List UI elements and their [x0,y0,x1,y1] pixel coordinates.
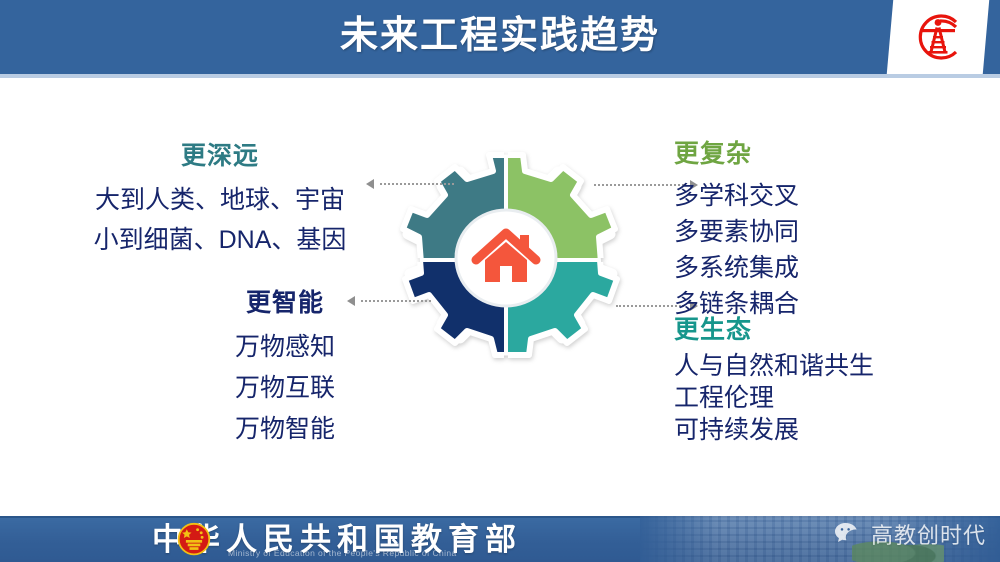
block-line: 可持续发展 [674,414,874,446]
block-line: 多学科交叉 [674,178,799,214]
block-line: 大到人类、地球、宇宙 [70,180,370,220]
block-line: 万物智能 [200,409,370,450]
text-block-ecological: 更生态 人与自然和谐共生 工程伦理 可持续发展 [674,310,874,446]
slide-root: 未来工程实践趋势 [0,0,1000,562]
text-block-smarter: 更智能 万物感知 万物互联 万物智能 [200,283,370,450]
national-emblem-of-china [176,522,212,558]
watermark-text: 高教创时代 [871,518,986,550]
header-bar: 未来工程实践趋势 [0,0,1000,74]
text-block-deeper: 更深远 大到人类、地球、宇宙 小到细菌、DNA、基因 [70,136,370,260]
block-heading-ecological: 更生态 [674,310,874,346]
page-title: 未来工程实践趋势 [0,0,1000,74]
block-line: 万物互联 [200,368,370,409]
block-line: 多要素协同 [674,214,799,250]
block-heading-deeper: 更深远 [70,136,370,172]
block-line: 万物感知 [200,327,370,368]
block-heading-smarter: 更智能 [200,283,370,319]
connector-deeper [374,183,454,185]
wechat-watermark: 高教创时代 [834,518,986,550]
logo-plate [887,0,989,74]
tongji-university-logo [910,9,966,65]
footer-banner: 中华人民共和国教育部 Ministry of Education of the … [0,516,1000,562]
block-line: 人与自然和谐共生 [674,350,874,382]
footer-subtitle: Ministry of Education of the People's Re… [228,548,457,558]
header-underline [0,74,1000,78]
block-line: 工程伦理 [674,382,874,414]
block-heading-complex: 更复杂 [674,134,799,170]
text-block-complex: 更复杂 多学科交叉 多要素协同 多系统集成 多链条耦合 [674,134,799,322]
wechat-icon [834,521,864,547]
block-line: 多系统集成 [674,250,799,286]
block-line: 小到细菌、DNA、基因 [70,220,370,260]
